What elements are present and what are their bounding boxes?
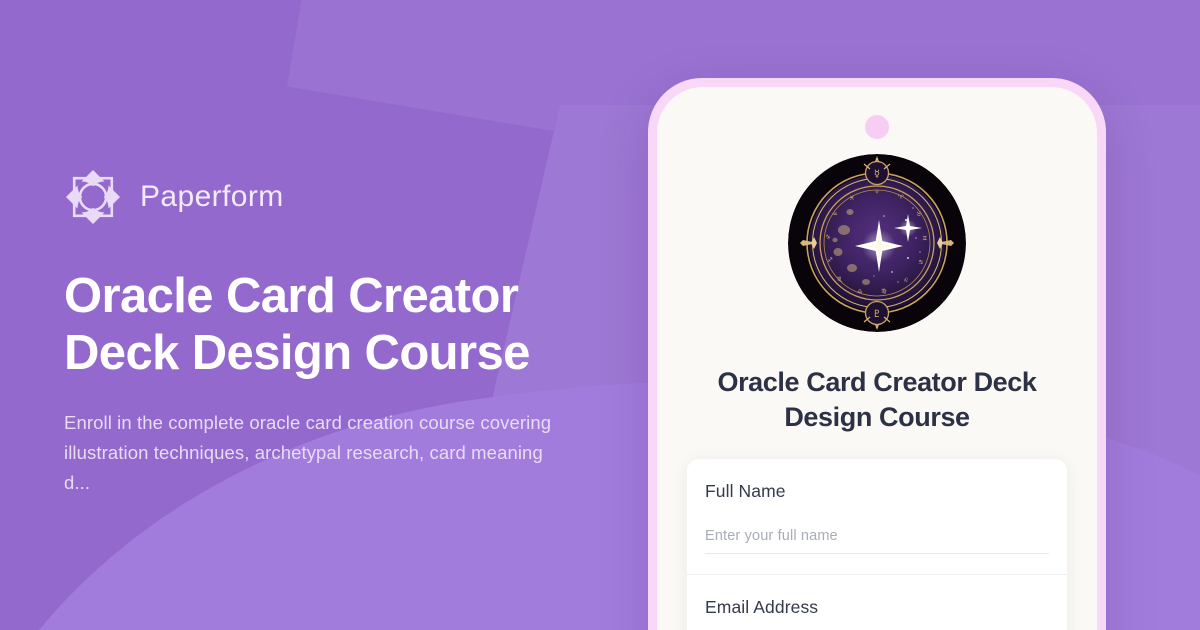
camera-dot xyxy=(865,115,889,139)
svg-text:♎: ♎ xyxy=(857,288,862,295)
field-label-full-name: Full Name xyxy=(705,481,1049,502)
field-full-name: Full Name Enter your full name xyxy=(687,459,1067,554)
svg-text:♍: ♍ xyxy=(881,288,886,295)
field-email-address: Email Address xyxy=(687,574,1067,618)
page-title: Oracle Card Creator Deck Design Course xyxy=(64,268,584,382)
svg-text:♈: ♈ xyxy=(898,194,904,201)
phone-mockup: ✧♈ ♉♊ ♋♌ ♍♎ ♏♐ ♑♒ ♓ xyxy=(648,78,1106,630)
svg-text:♌: ♌ xyxy=(903,277,908,284)
svg-text:♓: ♓ xyxy=(849,195,854,202)
svg-text:♒: ♒ xyxy=(832,211,837,218)
paperform-flower-logo-icon xyxy=(64,168,122,226)
page-description: Enroll in the complete oracle card creat… xyxy=(64,408,569,498)
full-name-input[interactable]: Enter your full name xyxy=(705,528,1049,554)
svg-text:☿: ☿ xyxy=(874,169,880,180)
brand-lockup: Paperform xyxy=(64,168,624,226)
svg-text:♊: ♊ xyxy=(922,235,927,242)
svg-text:♇: ♇ xyxy=(873,309,882,320)
brand-name: Paperform xyxy=(140,180,284,214)
signup-form-card: Full Name Enter your full name Email Add… xyxy=(687,459,1067,630)
phone-screen: ✧♈ ♉♊ ♋♌ ♍♎ ♏♐ ♑♒ ♓ xyxy=(657,87,1097,630)
svg-text:♏: ♏ xyxy=(837,276,843,283)
svg-text:♋: ♋ xyxy=(918,259,923,266)
svg-text:✧: ✧ xyxy=(874,189,879,196)
form-title: Oracle Card Creator Deck Design Course xyxy=(657,365,1097,434)
crescent-moon-mandala-logo-icon: ✧♈ ♉♊ ♋♌ ♍♎ ♏♐ ♑♒ ♓ xyxy=(788,154,966,332)
field-label-email-address: Email Address xyxy=(705,597,1049,618)
svg-text:♑: ♑ xyxy=(825,234,830,241)
hero-content: Paperform Oracle Card Creator Deck Desig… xyxy=(64,168,624,498)
svg-text:♉: ♉ xyxy=(916,211,921,218)
svg-text:♐: ♐ xyxy=(827,257,832,264)
